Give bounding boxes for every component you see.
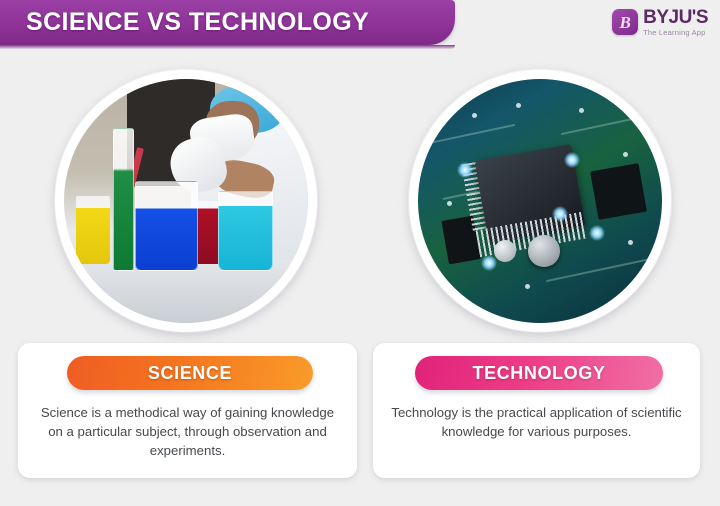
science-pill[interactable]: SCIENCE bbox=[67, 356, 313, 390]
science-photo-circle bbox=[55, 70, 317, 332]
page-title: SCIENCE VS TECHNOLOGY bbox=[26, 8, 369, 37]
technology-pill[interactable]: TECHNOLOGY bbox=[415, 356, 663, 390]
technology-card: TECHNOLOGY Technology is the practical a… bbox=[373, 343, 700, 478]
science-description: Science is a methodical way of gaining k… bbox=[32, 403, 343, 460]
science-photo-art bbox=[64, 79, 308, 323]
logo-mark-glyph: B bbox=[619, 14, 630, 31]
header-banner: SCIENCE VS TECHNOLOGY bbox=[0, 0, 455, 45]
infographic-canvas: SCIENCE VS TECHNOLOGY B BYJU'S The Learn… bbox=[0, 0, 720, 506]
banner-underline bbox=[0, 45, 455, 49]
science-pill-label: SCIENCE bbox=[148, 363, 232, 384]
technology-pill-label: TECHNOLOGY bbox=[472, 363, 605, 384]
logo-text-block: BYJU'S The Learning App bbox=[643, 8, 708, 37]
technology-photo-circle bbox=[409, 70, 671, 332]
science-photo bbox=[64, 79, 308, 323]
science-card: SCIENCE Science is a methodical way of g… bbox=[18, 343, 357, 478]
byjus-logo-icon: B bbox=[612, 9, 638, 35]
technology-photo-art bbox=[418, 79, 662, 323]
byjus-logo[interactable]: B BYJU'S The Learning App bbox=[612, 8, 708, 37]
technology-description: Technology is the practical application … bbox=[387, 403, 686, 441]
technology-photo bbox=[418, 79, 662, 323]
logo-tagline: The Learning App bbox=[643, 29, 708, 37]
logo-brand-name: BYJU'S bbox=[643, 8, 708, 27]
